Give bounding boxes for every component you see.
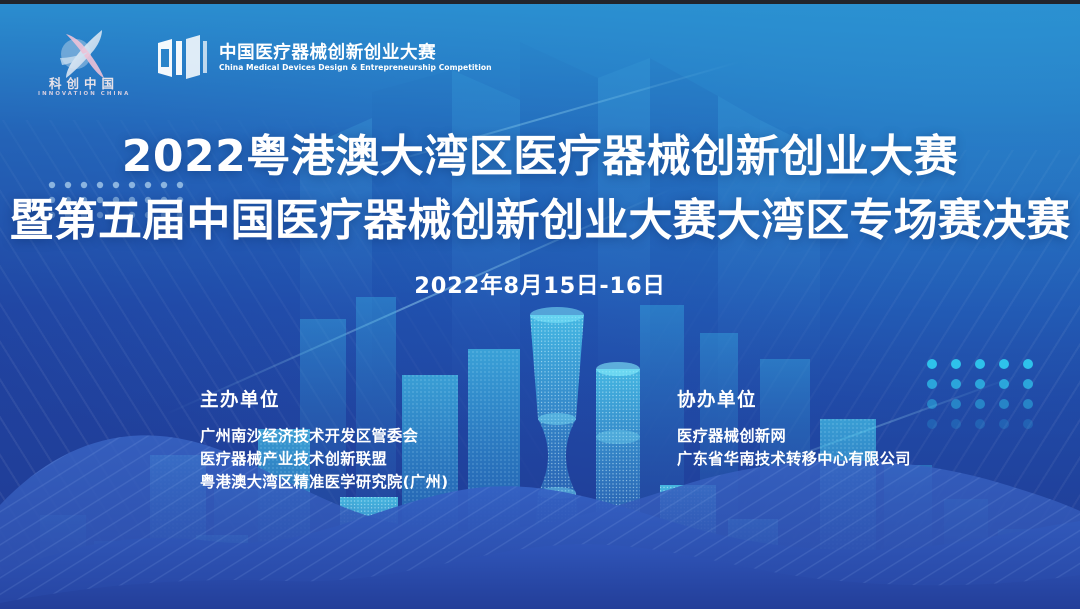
logo-innovation-china: 科创中国 INNOVATION CHINA: [38, 28, 130, 102]
innovation-china-en: INNOVATION CHINA: [38, 92, 130, 97]
title-line-1: 2022粤港澳大湾区医疗器械创新创业大赛: [0, 131, 1080, 182]
competition-logo-cn: 中国医疗器械创新创业大赛: [219, 44, 492, 62]
competition-logo-text: 中国医疗器械创新创业大赛 China Medical Devices Desig…: [219, 44, 492, 72]
innovation-china-bird-mark: [50, 28, 118, 80]
competition-logo-en: China Medical Devices Design & Entrepren…: [219, 64, 492, 72]
poster-canvas: 科创中国 INNOVATION CHINA 中国医疗器械创新创业大赛 China…: [0, 0, 1080, 609]
bottom-waves: [0, 379, 1080, 609]
logo-bar: 科创中国 INNOVATION CHINA 中国医疗器械创新创业大赛 China…: [38, 28, 492, 102]
china-medical-devices-door-mark: [156, 35, 208, 81]
innovation-china-cn: 科创中国: [38, 78, 130, 91]
title-line-2: 暨第五届中国医疗器械创新创业大赛大湾区专场赛决赛: [0, 195, 1080, 246]
coorganizer-item: 医疗器械创新网: [677, 425, 911, 448]
top-edge-bar: [0, 0, 1080, 4]
dot-grid-right: [926, 358, 1034, 432]
coorganizer-block: 协办单位 医疗器械创新网 广东省华南技术转移中心有限公司: [677, 392, 911, 471]
host-organizer-item: 粤港澳大湾区精准医学研究院(广州): [200, 471, 449, 494]
coorganizer-item: 广东省华南技术转移中心有限公司: [677, 448, 911, 471]
host-organizer-item: 医疗器械产业技术创新联盟: [200, 448, 449, 471]
host-organizer-block: 主办单位 广州南沙经济技术开发区管委会 医疗器械产业技术创新联盟 粤港澳大湾区精…: [200, 392, 449, 494]
host-organizer-heading: 主办单位: [200, 392, 449, 411]
logo-competition: 中国医疗器械创新创业大赛 China Medical Devices Desig…: [156, 28, 492, 81]
host-organizer-item: 广州南沙经济技术开发区管委会: [200, 425, 449, 448]
coorganizer-heading: 协办单位: [677, 392, 911, 411]
title-block: 2022粤港澳大湾区医疗器械创新创业大赛 暨第五届中国医疗器械创新创业大赛大湾区…: [0, 131, 1080, 298]
event-date: 2022年8月15日-16日: [0, 275, 1080, 298]
